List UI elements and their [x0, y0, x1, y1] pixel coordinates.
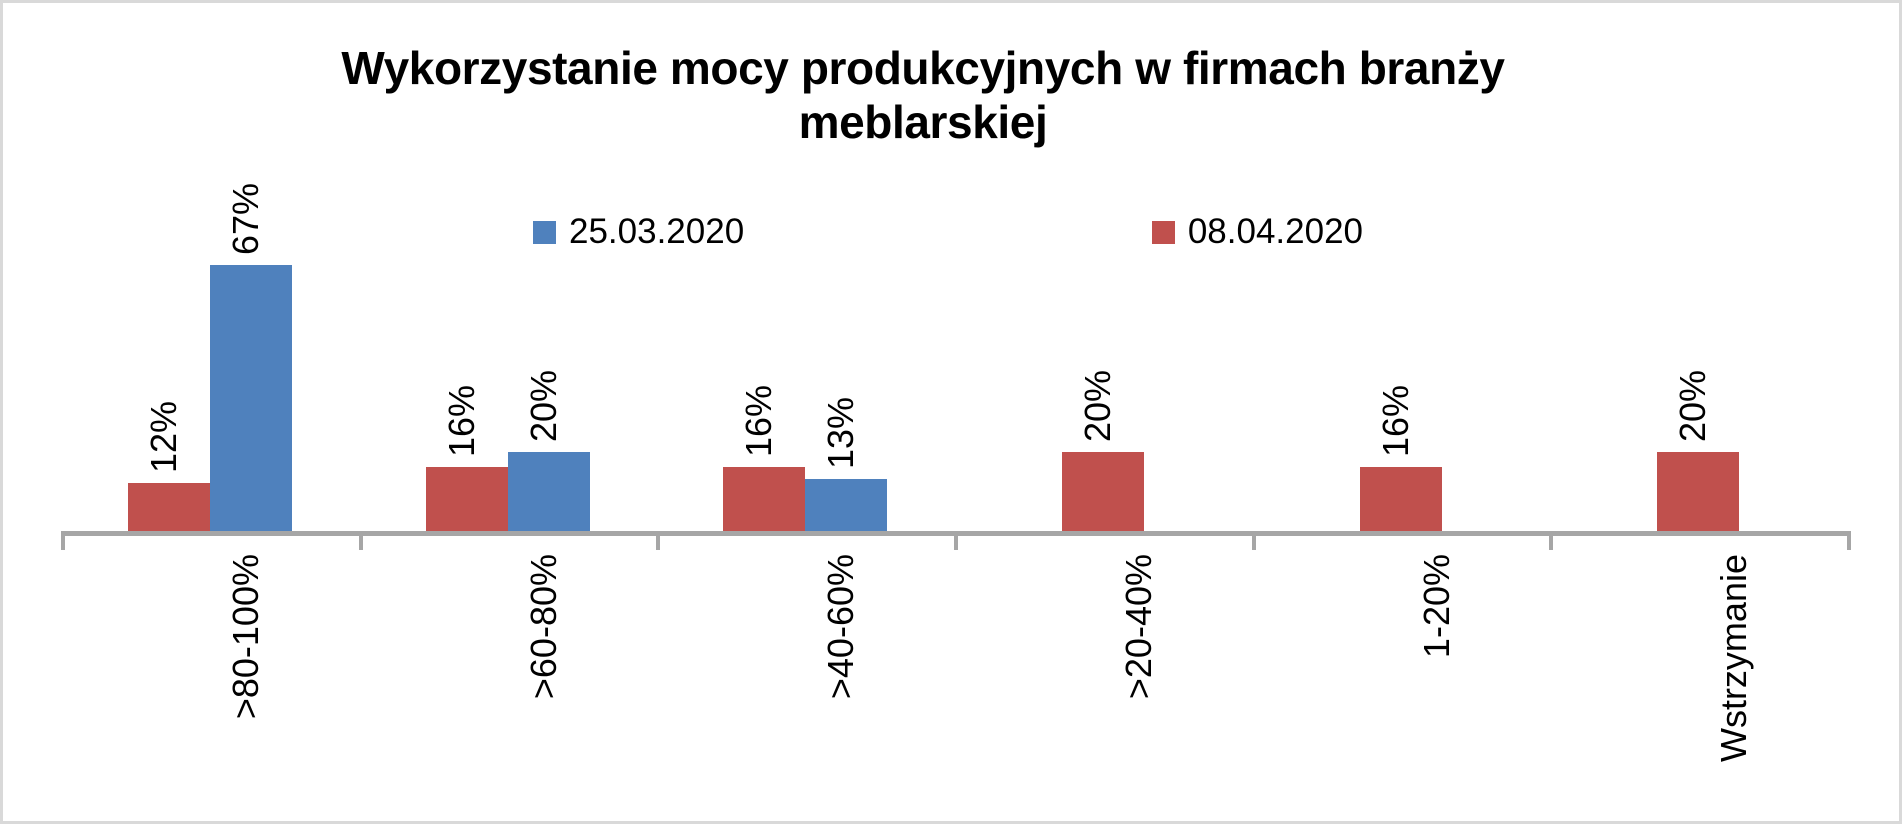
- x-axis-category-labels: >80-100%>60-80%>40-60%>20-40%1-20%Wstrzy…: [61, 554, 1847, 804]
- chart-container: Wykorzystanie mocy produkcyjnych w firma…: [0, 0, 1902, 824]
- chart-title: Wykorzystanie mocy produkcyjnych w firma…: [263, 41, 1583, 150]
- legend-label-series-2: 08.04.2020: [1188, 212, 1363, 252]
- x-axis-category-label-text: >20-40%: [1121, 554, 1157, 699]
- bar-series-1[interactable]: [508, 452, 590, 531]
- x-axis-tick: [1252, 531, 1256, 550]
- x-axis-tick: [656, 531, 660, 550]
- bar-series-2[interactable]: [1657, 452, 1739, 531]
- bar-series-2[interactable]: [426, 467, 508, 531]
- plot-area: 12%67%16%20%16%13%20%16%20%: [61, 253, 1847, 531]
- bar-series-1[interactable]: [210, 265, 292, 531]
- x-axis-tick: [1847, 531, 1851, 550]
- bar-series-2[interactable]: [1062, 452, 1144, 531]
- bar-value-label-text: 13%: [823, 397, 859, 469]
- x-axis-tick: [954, 531, 958, 550]
- x-axis-tick: [1549, 531, 1553, 550]
- bar-value-label-text: 67%: [228, 183, 264, 255]
- legend-item-series-1[interactable]: 25.03.2020: [533, 212, 744, 252]
- chart-title-line-1: Wykorzystanie mocy produkcyjnych w firma…: [263, 41, 1583, 95]
- bar-value-label-text: 16%: [1378, 385, 1414, 457]
- x-axis-category-label-text: >60-80%: [526, 554, 562, 699]
- bar-series-1[interactable]: [805, 479, 887, 531]
- bar-series-2[interactable]: [723, 467, 805, 531]
- chart-legend: 25.03.2020 08.04.2020: [533, 209, 1363, 255]
- legend-item-series-2[interactable]: 08.04.2020: [1152, 212, 1363, 252]
- bar-series-2[interactable]: [128, 483, 210, 531]
- x-axis-tick: [359, 531, 363, 550]
- bar-value-label-text: 20%: [1080, 370, 1116, 442]
- legend-swatch-icon-series-1: [533, 221, 556, 244]
- bar-value-label-text: 20%: [526, 370, 562, 442]
- bar-value-label-text: 16%: [741, 385, 777, 457]
- legend-label-series-1: 25.03.2020: [569, 212, 744, 252]
- x-axis-category-label-text: >80-100%: [228, 554, 264, 719]
- bar-series-2[interactable]: [1360, 467, 1442, 531]
- bar-value-label-text: 20%: [1675, 370, 1711, 442]
- x-axis-category-label-text: >40-60%: [823, 554, 859, 699]
- bar-value-label-text: 16%: [444, 385, 480, 457]
- x-axis-tick: [61, 531, 65, 550]
- bar-value-label-text: 12%: [146, 401, 182, 473]
- x-axis-category-label-text: 1-20%: [1419, 554, 1455, 658]
- chart-title-line-2: meblarskiej: [263, 95, 1583, 149]
- legend-swatch-icon-series-2: [1152, 221, 1175, 244]
- x-axis-category-label-text: Wstrzymanie: [1716, 554, 1752, 762]
